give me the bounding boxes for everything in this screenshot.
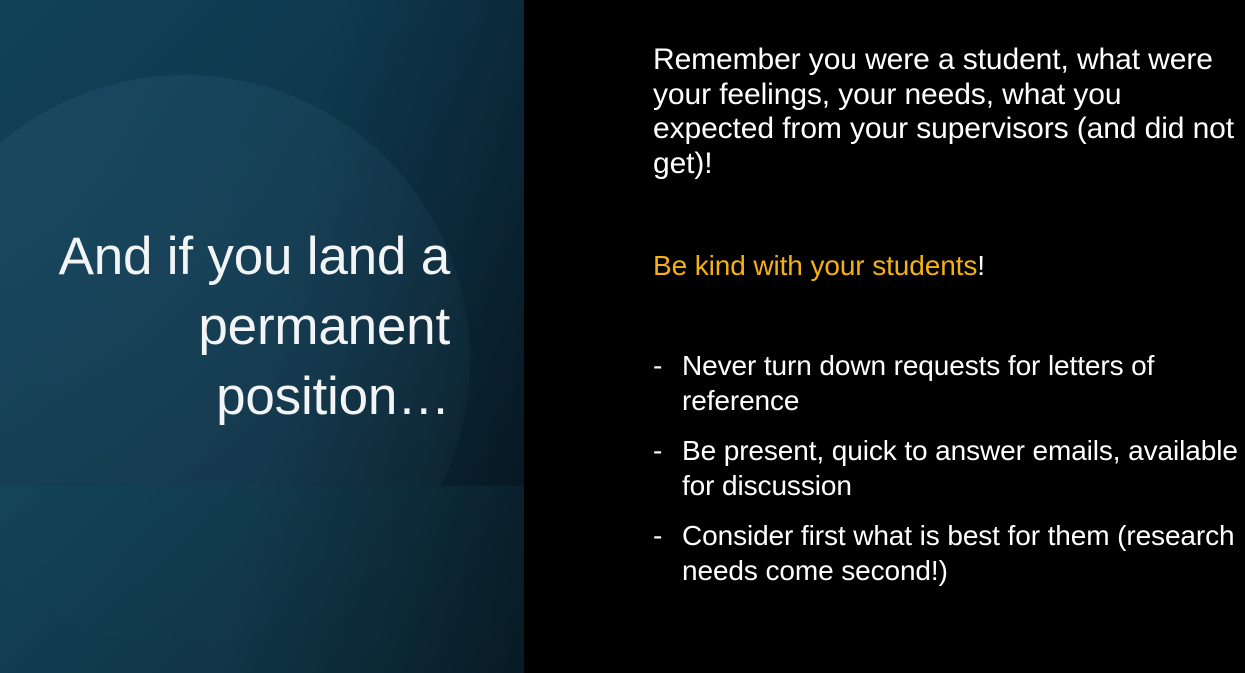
- highlight-suffix: !: [977, 250, 985, 281]
- slide: And if you land a permanent position… Re…: [0, 0, 1245, 673]
- list-item-text: Consider first what is best for them (re…: [682, 520, 1235, 586]
- dash-bullet-icon: -: [653, 518, 662, 553]
- dash-bullet-icon: -: [653, 348, 662, 383]
- highlight-line: Be kind with your students!: [653, 249, 1240, 283]
- right-panel: Remember you were a student, what were y…: [524, 0, 1245, 673]
- list-item: - Never turn down requests for letters o…: [653, 348, 1245, 418]
- intro-paragraph: Remember you were a student, what were y…: [653, 43, 1240, 181]
- bullet-list: - Never turn down requests for letters o…: [653, 348, 1245, 588]
- slide-title: And if you land a permanent position…: [28, 222, 450, 432]
- list-item-text: Never turn down requests for letters of …: [682, 350, 1154, 416]
- dash-bullet-icon: -: [653, 433, 662, 468]
- highlight-accent-text: Be kind with your students: [653, 250, 977, 281]
- list-item: - Consider first what is best for them (…: [653, 518, 1245, 588]
- list-item-text: Be present, quick to answer emails, avai…: [682, 435, 1238, 501]
- list-item: - Be present, quick to answer emails, av…: [653, 433, 1245, 503]
- left-panel: And if you land a permanent position…: [0, 0, 524, 673]
